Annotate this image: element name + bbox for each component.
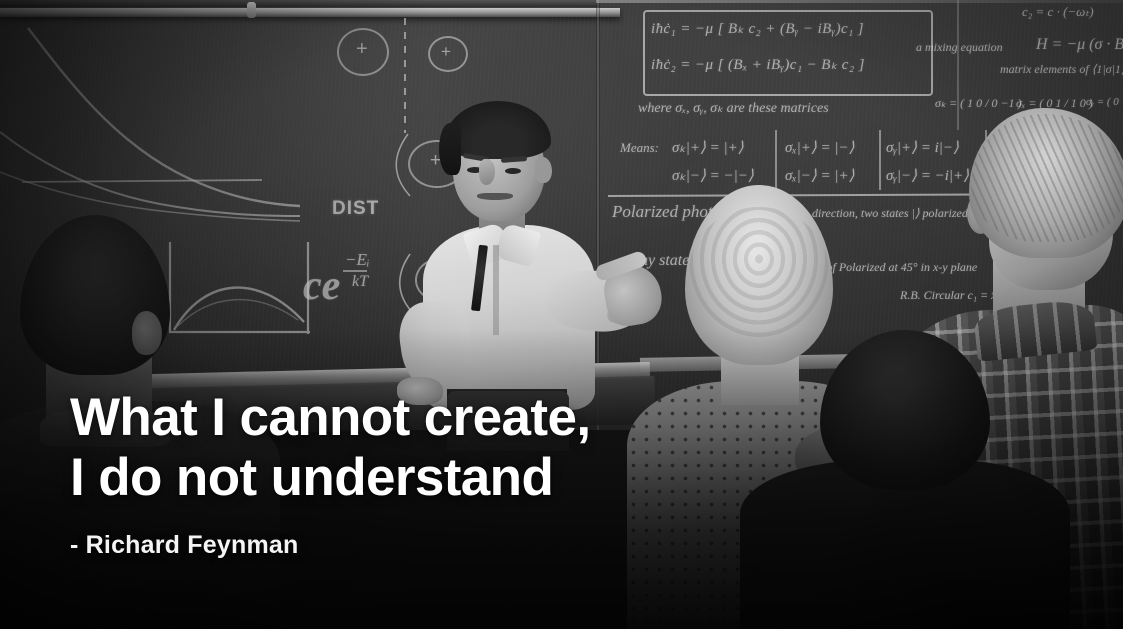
feynman-ear xyxy=(535,157,552,183)
feynman-sideburn xyxy=(439,123,461,175)
student-front xyxy=(800,330,1040,629)
plus-symbol-2: + xyxy=(441,42,451,62)
chalk-matrix-elements: matrix elements of ⟨1|σ|1⟩ xyxy=(1000,62,1123,77)
chalk-equation-1: iħċ₁ = −μ [ Bₖ c₂ + (Bᵧ − iBᵧ)c₁ ] xyxy=(651,19,864,38)
feynman-mouth xyxy=(477,193,513,200)
chalk-matrix-sigma-y: σᵧ = ( 0 −i / i 0 ) xyxy=(1086,96,1123,108)
feynman-eye-right xyxy=(505,168,521,174)
student-left-ear xyxy=(132,311,162,355)
chalk-hamiltonian: H = −μ (σ · B) xyxy=(1036,36,1123,54)
quote-attribution: - Richard Feynman xyxy=(70,531,770,560)
student-blonde-hair-waves xyxy=(689,207,829,337)
decay-curve-upper xyxy=(0,20,300,240)
feynman-shirt-placket xyxy=(493,245,499,335)
chalk-c2-note: c₂ = c · (−ωₜ) xyxy=(1022,4,1094,20)
chalk-mixing-equation-note: a mixing equation xyxy=(916,40,1003,55)
chalk-equation-2: iħċ₂ = −μ [ (Bₓ + iBᵧ)c₁ − Bₖ c₂ ] xyxy=(651,55,865,74)
chalk-boltzmann-factor: ce xyxy=(303,262,340,310)
quote-overlay: What I cannot create, I do not understan… xyxy=(70,388,770,560)
fraction-bar xyxy=(341,266,373,276)
quote-line-1: What I cannot create, xyxy=(70,388,770,448)
blackboard-frame-top xyxy=(0,0,600,7)
chalk-rail-top xyxy=(0,8,620,17)
baseline-axis xyxy=(22,168,262,198)
quote-card: DIST ce −Eᵢ kT + + + + xyxy=(0,0,1123,629)
chalk-matrices-intro: where σₓ, σᵧ, σₖ are these matrices xyxy=(638,100,829,117)
rail-peg xyxy=(247,2,256,18)
blackboard-seam-horizontal xyxy=(596,0,1123,3)
quote-line-2: I do not understand xyxy=(70,448,770,508)
student-front-hair xyxy=(820,330,990,490)
lecturer-feynman xyxy=(395,95,660,405)
student-right-hair-texture xyxy=(971,114,1123,242)
plus-symbol-1: + xyxy=(356,38,368,61)
